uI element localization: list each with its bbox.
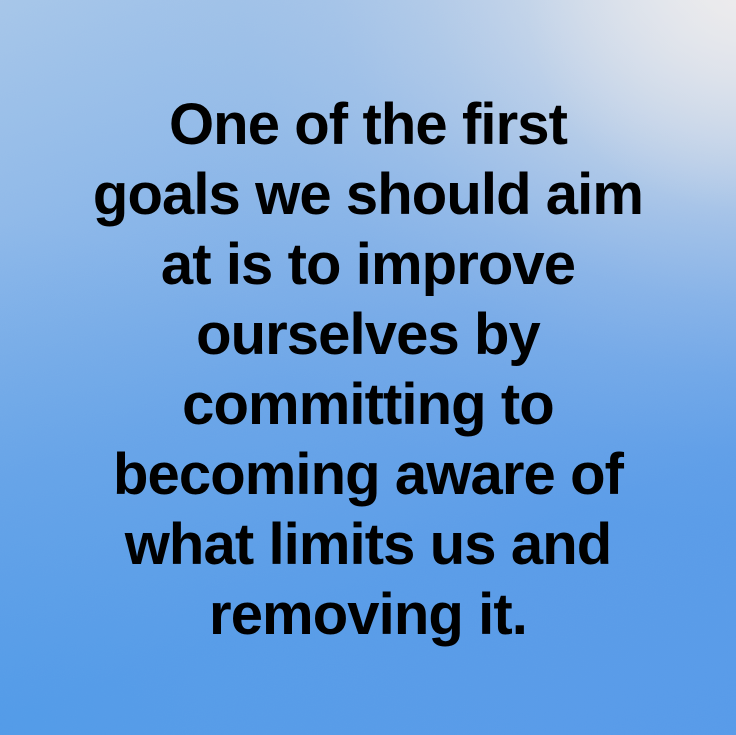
quote-line-8: removing it. xyxy=(0,580,736,650)
quote-line-5: committing to xyxy=(0,370,736,440)
quote-line-3: at is to improve xyxy=(0,230,736,300)
quote-line-6: becoming aware of xyxy=(0,440,736,510)
quote-line-4: ourselves by xyxy=(0,300,736,370)
quote-text-block: One of the first goals we should aim at … xyxy=(0,0,736,735)
quote-line-2: goals we should aim xyxy=(0,160,736,230)
quote-card: One of the first goals we should aim at … xyxy=(0,0,736,735)
quote-line-7: what limits us and xyxy=(0,510,736,580)
quote-line-1: One of the first xyxy=(0,90,736,160)
